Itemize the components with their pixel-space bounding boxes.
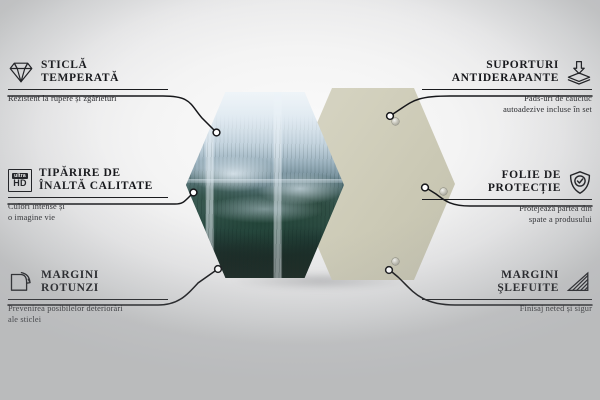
feature-description: Prevenirea posibilelor deteriorări ale s… bbox=[8, 304, 168, 325]
feature-description: Rezistent la rupere și zgârieturi bbox=[8, 94, 168, 105]
feature-title-line1: MARGINI bbox=[497, 269, 559, 282]
shield-check-icon bbox=[568, 170, 592, 195]
feature-header: STICLĂ TEMPERATĂ bbox=[8, 59, 168, 85]
feature-rule bbox=[8, 299, 168, 300]
ultra-hd-badge-bottom: HD bbox=[13, 179, 27, 188]
feature-suporturi-antiderapante: SUPORTURI ANTIDERAPANTE Pads-uri de cauc… bbox=[422, 59, 592, 115]
feature-header: MARGINI ŞLEFUITE bbox=[422, 269, 592, 295]
feature-description: Protejează partea din spate a produsului bbox=[422, 204, 592, 225]
feature-title-line1: TIPĂRIRE DE bbox=[39, 167, 153, 180]
rubber-pad bbox=[392, 258, 399, 265]
feature-description: Culori intense și o imagine vie bbox=[8, 202, 168, 223]
ultra-hd-icon: ultra HD bbox=[8, 169, 32, 192]
feature-header: MARGINI ROTUNZI bbox=[8, 269, 168, 295]
feature-rule bbox=[422, 299, 592, 300]
feature-title-line1: STICLĂ bbox=[41, 59, 119, 72]
feature-title-block: STICLĂ TEMPERATĂ bbox=[41, 59, 119, 85]
rubber-pad bbox=[392, 118, 399, 125]
feature-description: Pads-uri de cauciuc autoadezive incluse … bbox=[422, 94, 592, 115]
feature-description: Finisaj neted și sigur bbox=[422, 304, 592, 315]
feature-folie-protectie: FOLIE DE PROTECȚIE Protejează partea din… bbox=[422, 169, 592, 225]
feature-header: ultra HD TIPĂRIRE DE ÎNALTĂ CALITATE bbox=[8, 167, 168, 193]
feature-title-line2: PROTECȚIE bbox=[488, 182, 561, 195]
feature-rule bbox=[8, 197, 168, 198]
feature-rule bbox=[8, 89, 168, 90]
feature-title-line1: MARGINI bbox=[41, 269, 99, 282]
feature-sticla-temperata: STICLĂ TEMPERATĂ Rezistent la rupere și … bbox=[8, 59, 168, 105]
feature-title-line2: ROTUNZI bbox=[41, 282, 99, 295]
feature-rule bbox=[422, 89, 592, 90]
diamond-icon bbox=[8, 61, 34, 84]
feature-title-line2: ANTIDERAPANTE bbox=[452, 72, 559, 85]
feature-tiparire-calitate: ultra HD TIPĂRIRE DE ÎNALTĂ CALITATE Cul… bbox=[8, 167, 168, 223]
polished-edge-icon bbox=[566, 271, 592, 293]
feature-title-block: MARGINI ŞLEFUITE bbox=[497, 269, 559, 295]
feature-margini-rotunzi: MARGINI ROTUNZI Prevenirea posibilelor d… bbox=[8, 269, 168, 325]
feature-rule bbox=[422, 199, 592, 200]
feature-title-line2: ŞLEFUITE bbox=[497, 282, 559, 295]
window-frame-reflection bbox=[186, 179, 344, 183]
feature-title-block: MARGINI ROTUNZI bbox=[41, 269, 99, 295]
feature-title-block: FOLIE DE PROTECȚIE bbox=[488, 169, 561, 195]
anti-slip-pad-icon bbox=[566, 60, 592, 85]
rounded-corner-icon bbox=[8, 271, 34, 294]
feature-title-line2: ÎNALTĂ CALITATE bbox=[39, 180, 153, 193]
infographic-canvas: STICLĂ TEMPERATĂ Rezistent la rupere și … bbox=[0, 0, 600, 400]
feature-margini-slefuite: MARGINI ŞLEFUITE Finisaj neted și sigur bbox=[422, 269, 592, 315]
feature-title-line1: FOLIE DE bbox=[488, 169, 561, 182]
feature-header: FOLIE DE PROTECȚIE bbox=[422, 169, 592, 195]
feature-title-line2: TEMPERATĂ bbox=[41, 72, 119, 85]
feature-title-line1: SUPORTURI bbox=[452, 59, 559, 72]
feature-title-block: SUPORTURI ANTIDERAPANTE bbox=[452, 59, 559, 85]
feature-header: SUPORTURI ANTIDERAPANTE bbox=[422, 59, 592, 85]
feature-title-block: TIPĂRIRE DE ÎNALTĂ CALITATE bbox=[39, 167, 153, 193]
